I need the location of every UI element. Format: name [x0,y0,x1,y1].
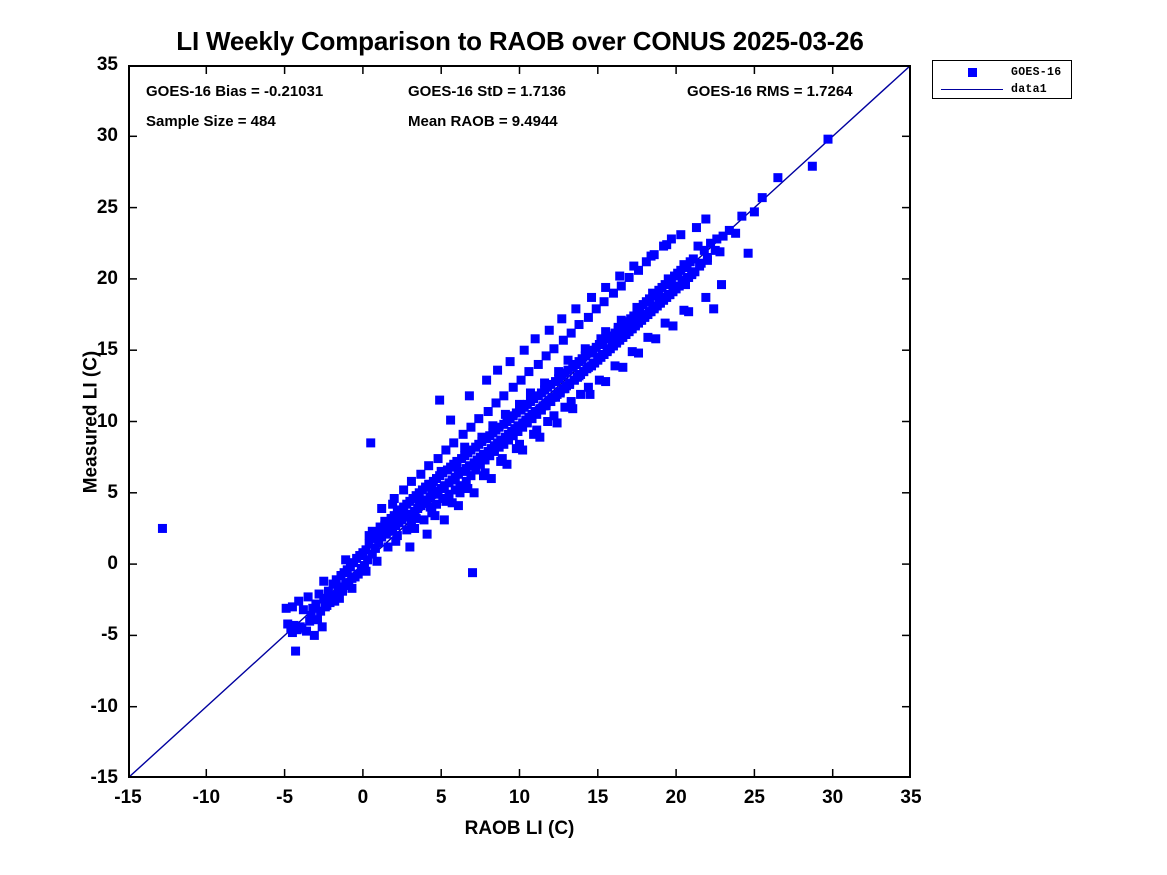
y-tick-label: 30 [97,125,118,147]
scatter-point [435,396,444,405]
scatter-point [383,542,392,551]
y-tick-label: 20 [97,268,118,290]
scatter-point [488,421,497,430]
scatter-point [396,511,405,520]
scatter-point [629,262,638,271]
x-tick-label: 10 [509,787,530,809]
scatter-point [676,230,685,239]
scatter-point [487,474,496,483]
scatter-point [531,334,540,343]
scatter-point [468,568,477,577]
scatter-point [584,313,593,322]
scatter-point [592,304,601,313]
scatter-point [711,246,720,255]
plot-area: -15-10-505101520253035 -15-10-5051015202… [128,65,911,778]
scatter-point [571,304,580,313]
scatter-point [365,531,374,540]
scatter-point [499,391,508,400]
x-tick-label: 35 [900,787,921,809]
scatter-point [737,212,746,221]
scatter-point [615,272,624,281]
x-tick-label: -5 [276,787,293,809]
scatter-point [540,378,549,387]
scatter-point [419,515,428,524]
scatter-point [372,557,381,566]
scatter-point [557,314,566,323]
legend-entry-data1[interactable]: data1 [933,80,1071,98]
scatter-point [319,577,328,586]
scatter-point [701,293,710,302]
scatter-point [614,323,623,332]
scatter-point [543,417,552,426]
scatter-point [554,367,563,376]
scatter-point [449,438,458,447]
y-tick-label: 35 [97,54,118,76]
scatter-point [506,357,515,366]
scatter-point [581,344,590,353]
scatter-point [427,484,436,493]
scatter-point [434,454,443,463]
scatter-point [665,290,674,299]
x-axis-label: RAOB LI (C) [128,818,911,840]
scatter-point [391,537,400,546]
scatter-point [341,555,350,564]
x-tick-label: -15 [114,787,141,809]
scatter-point [643,333,652,342]
scatter-point [416,470,425,479]
scatter-canvas [128,65,911,778]
scatter-point [758,193,767,202]
scatter-point [628,347,637,356]
scatter-point [477,433,486,442]
scatter-point [534,360,543,369]
scatter-point [410,524,419,533]
scatter-point [366,438,375,447]
scatter-point [466,423,475,432]
scatter-point [304,592,313,601]
scatter-point [446,416,455,425]
scatter-point [611,361,620,370]
scatter-point [291,647,300,656]
scatter-point [668,321,677,330]
x-tick-label: 5 [436,787,447,809]
scatter-point [474,414,483,423]
scatter-point [520,346,529,355]
scatter-point [609,289,618,298]
scatter-point [501,410,510,419]
y-tick-label: -15 [91,767,118,789]
scatter-point [424,461,433,470]
scatter-point [564,356,573,365]
x-tick-label: 20 [666,787,687,809]
scatter-point [618,363,627,372]
scatter-point [322,601,331,610]
scatter-point [479,471,488,480]
scatter-point [402,525,411,534]
x-tick-label: 0 [358,787,369,809]
legend-label-goes16: GOES-16 [1011,66,1061,79]
scatter-point [407,477,416,486]
scatter-series-goes16 [158,135,833,656]
scatter-point [692,223,701,232]
scatter-point [482,376,491,385]
scatter-point [399,485,408,494]
scatter-point [731,229,740,238]
scatter-point [440,515,449,524]
scatter-point [596,334,605,343]
page-title: LI Weekly Comparison to RAOB over CONUS … [0,26,1040,57]
scatter-point [601,283,610,292]
scatter-point [648,301,657,310]
scatter-point [549,344,558,353]
scatter-point [452,463,461,472]
scatter-point [496,457,505,466]
scatter-point [647,252,656,261]
scatter-point [441,446,450,455]
y-tick-label: 5 [107,482,118,504]
scatter-point [701,215,710,224]
scatter-point [517,376,526,385]
scatter-point [484,407,493,416]
scatter-point [302,627,311,636]
scatter-point [679,306,688,315]
scatter-point [600,297,609,306]
scatter-point [709,304,718,313]
scatter-point [717,280,726,289]
scatter-point [750,207,759,216]
scatter-point [335,594,344,603]
scatter-point [388,500,397,509]
y-axis-label: Measured LI (C) [80,350,102,493]
scatter-point [465,391,474,400]
scatter-point [587,293,596,302]
scatter-point [493,366,502,375]
y-tick-label: 25 [97,197,118,219]
scatter-point [288,628,297,637]
scatter-point [529,430,538,439]
x-tick-label: 30 [822,787,843,809]
figure: LI Weekly Comparison to RAOB over CONUS … [0,0,1167,875]
scatter-point [560,403,569,412]
scatter-point [524,367,533,376]
scatter-point [463,484,472,493]
scatter-point [307,611,316,620]
scatter-point [553,418,562,427]
scatter-point [617,282,626,291]
scatter-point [423,530,432,539]
scatter-point [415,495,424,504]
legend-line-icon [933,89,1011,90]
scatter-point [808,162,817,171]
scatter-point [773,173,782,182]
scatter-point [460,443,469,452]
scatter-point [632,313,641,322]
scatter-point [158,524,167,533]
y-tick-label: -10 [91,696,118,718]
scatter-point [695,262,704,271]
scatter-point [625,273,634,282]
scatter-point [437,467,446,476]
scatter-point [703,253,712,262]
scatter-point [559,336,568,345]
scatter-point [405,542,414,551]
scatter-point [347,584,356,593]
scatter-point [651,334,660,343]
scatter-point [412,514,421,523]
scatter-point [585,390,594,399]
y-tick-label: -5 [101,624,118,646]
scatter-point [575,320,584,329]
legend-marker-icon [933,68,1011,77]
y-tick-label: 0 [107,553,118,575]
x-tick-label: 25 [744,787,765,809]
scatter-point [459,430,468,439]
scatter-point [294,597,303,606]
scatter-point [545,326,554,335]
legend-label-data1: data1 [1011,83,1047,96]
scatter-point [448,498,457,507]
scatter-point [662,240,671,249]
scatter-point [567,329,576,338]
legend-entry-goes16[interactable]: GOES-16 [933,63,1071,81]
scatter-point [542,351,551,360]
scatter-point [512,444,521,453]
scatter-point [744,249,753,258]
scatter-point [380,521,389,530]
x-tick-label: -10 [193,787,220,809]
scatter-point [310,631,319,640]
scatter-point [568,404,577,413]
scatter-point [595,376,604,385]
scatter-point [681,280,690,289]
x-tick-label: 15 [587,787,608,809]
scatter-point [430,511,439,520]
scatter-point [377,504,386,513]
scatter-point [318,622,327,631]
scatter-point [526,388,535,397]
scatter-point [661,319,670,328]
legend[interactable]: GOES-16 data1 [932,60,1072,99]
scatter-point [515,400,524,409]
scatter-point [492,398,501,407]
scatter-point [824,135,833,144]
scatter-point [687,269,696,278]
scatter-point [576,390,585,399]
scatter-point [509,383,518,392]
scatter-point [299,605,308,614]
scatter-point [362,567,371,576]
